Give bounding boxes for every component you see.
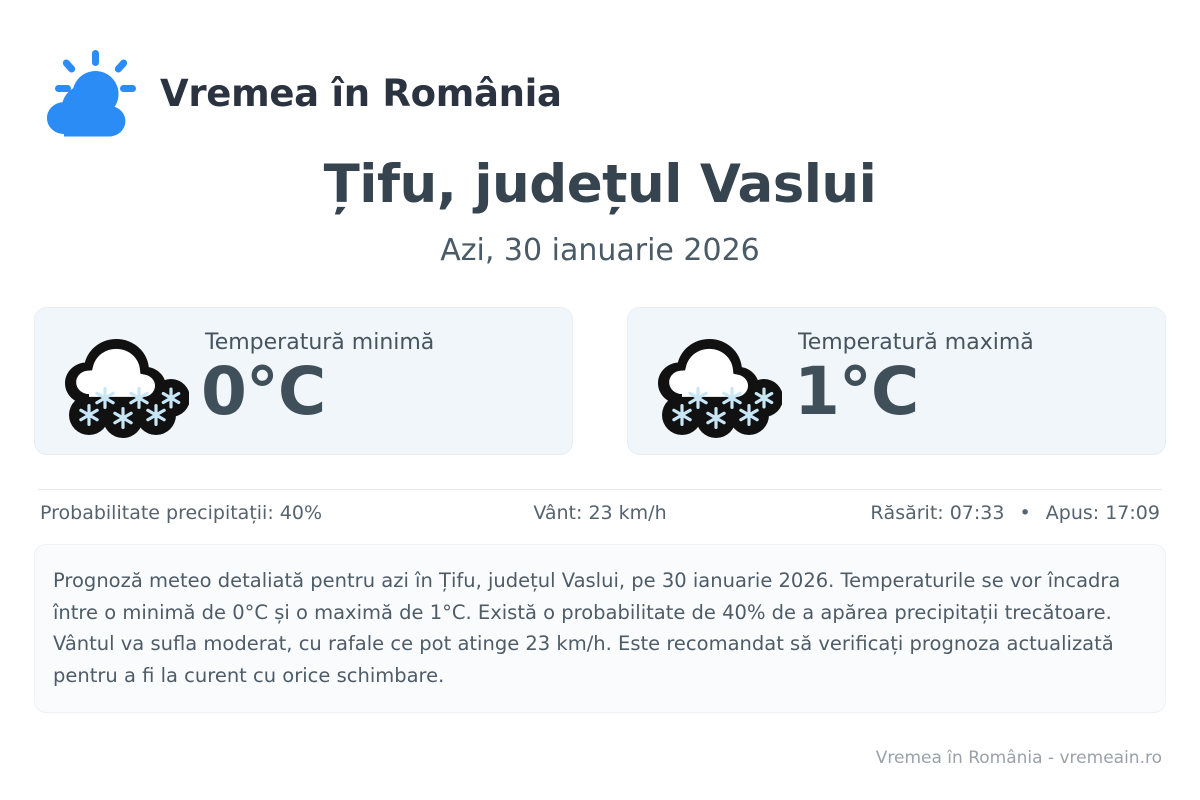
stats-row: Probabilitate precipitații: 40% Vânt: 23…	[40, 490, 1160, 536]
site-header: Vremea în România	[0, 0, 1200, 142]
min-temperature-texts: Temperatură minimă 0°C	[201, 330, 434, 433]
page-title: Țifu, județul Vaslui	[0, 156, 1200, 214]
min-temperature-value: 0°C	[201, 358, 434, 427]
max-temperature-value: 1°C	[794, 358, 1034, 427]
temperature-cards: Temperatură minimă 0°C	[34, 307, 1166, 455]
brand-name: Vremea în România	[160, 73, 562, 114]
max-temperature-texts: Temperatură maximă 1°C	[794, 330, 1034, 433]
title-block: Țifu, județul Vaslui Azi, 30 ianuarie 20…	[0, 156, 1200, 267]
weather-page: Vremea în România Țifu, județul Vaslui A…	[0, 0, 1200, 800]
wind-stat: Vânt: 23 km/h	[413, 502, 786, 524]
sunset-time: Apus: 17:09	[1046, 502, 1160, 524]
sunrise-time: Răsărit: 07:33	[870, 502, 1004, 524]
sun-behind-cloud-icon	[38, 46, 142, 142]
snow-cloud-icon	[57, 322, 189, 440]
bullet-separator-icon: •	[1020, 502, 1031, 524]
page-subtitle: Azi, 30 ianuarie 2026	[0, 234, 1200, 267]
forecast-description: Prognoză meteo detaliată pentru azi în Ț…	[34, 544, 1166, 712]
sun-times-stat: Răsărit: 07:33 • Apus: 17:09	[787, 502, 1160, 524]
footer-credit: Vremea în România - vremeain.ro	[876, 748, 1162, 768]
max-temperature-card: Temperatură maximă 1°C	[627, 307, 1166, 455]
precipitation-stat: Probabilitate precipitații: 40%	[40, 502, 413, 524]
min-temperature-card: Temperatură minimă 0°C	[34, 307, 573, 455]
snow-cloud-icon	[650, 322, 782, 440]
